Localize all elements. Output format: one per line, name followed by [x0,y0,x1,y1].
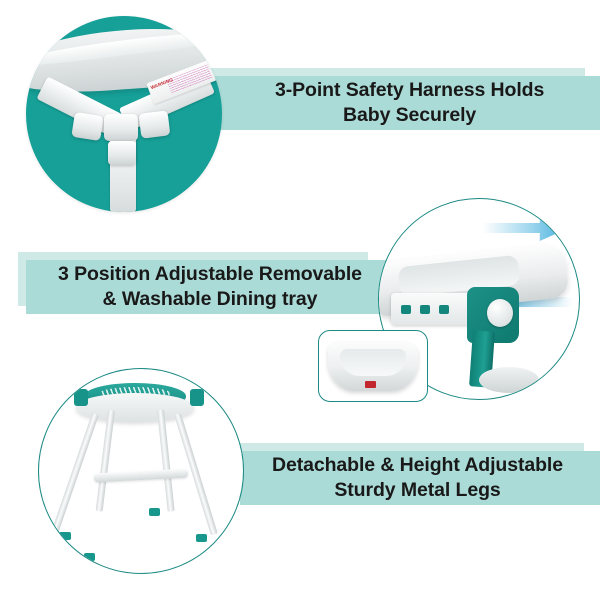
harness-buckle-right [138,110,170,139]
tray-position-slot-2 [420,305,430,315]
harness-photo: WARNING [26,16,222,212]
leg-foot-front-right [196,534,207,542]
tray-release-knob [487,299,513,327]
seat-clip-left [74,389,88,405]
tray-position-slot-1 [401,305,411,315]
tray-mount-base [479,367,539,393]
metal-leg-front-left [51,413,99,535]
leg-foot-back-right [149,508,160,516]
detached-tray-well [340,349,405,376]
legs-scene [39,369,243,573]
feature-text-harness: 3-Point Safety Harness Holds Baby Secure… [265,78,554,128]
tray-detached-photo [318,330,428,402]
seat-clip-right [190,389,204,405]
arrow-right-icon [483,215,569,241]
harness-scene: WARNING [26,16,222,212]
detached-tray-shape [328,342,419,391]
leg-foot-front-left [59,532,70,540]
metal-leg-back-left [96,409,115,511]
tray-position-slot-3 [439,305,449,315]
harness-buckle-left [71,112,104,142]
feature-text-tray: 3 Position Adjustable Removable & Washab… [48,262,372,312]
product-feature-infographic: 3-Point Safety Harness Holds Baby Secure… [0,0,600,600]
banner-fill-layer: Detachable & Height Adjustable Sturdy Me… [240,451,600,505]
seat-backrest-lip-shape [26,25,222,70]
banner-fill-layer: 3 Position Adjustable Removable & Washab… [26,260,398,314]
harness-buckle-center [104,114,137,141]
harness-buckle-crotch [108,141,135,165]
feature-banner-tray: 3 Position Adjustable Removable & Washab… [18,252,368,306]
leg-crossbar [94,469,188,483]
feature-banner-legs: Detachable & Height Adjustable Sturdy Me… [232,443,584,497]
feature-banner-harness: 3-Point Safety Harness Holds Baby Secure… [205,68,585,122]
detached-tray-brand-label [365,381,376,387]
metal-leg-back-right [157,409,174,511]
legs-photo [38,368,244,574]
feature-text-legs: Detachable & Height Adjustable Sturdy Me… [262,453,573,503]
leg-foot-back-left [84,553,95,561]
banner-fill-layer: 3-Point Safety Harness Holds Baby Secure… [213,76,600,130]
tray-adjustment-bracket [391,293,471,325]
